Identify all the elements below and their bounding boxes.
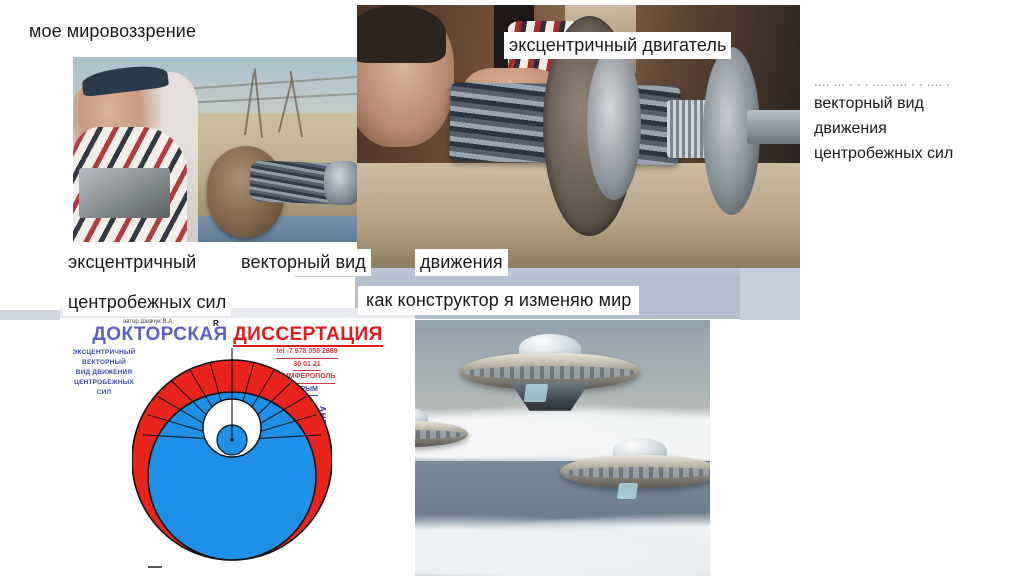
photo2-inner-flange [587, 47, 640, 200]
ufo-rim [464, 366, 637, 379]
photo-ufo-fleet [410, 320, 710, 576]
diagram-left-line: СИЛ [70, 388, 138, 398]
caption-vector-view: векторный вид [236, 249, 371, 276]
caption-constructor: как конструктор я изменяю мир [358, 286, 639, 315]
caption-eccentric-engine: эксцентричный двигатель [504, 32, 731, 59]
ufo-cloud-layer [410, 509, 710, 576]
diagram-title: ДОКТОРСКАЯ ДИССЕРТАЦИЯ [60, 324, 415, 346]
ufo-craft-right [560, 438, 710, 510]
diagram-left-line: ЦЕНТРОБЕЖНЫХ [70, 378, 138, 388]
slide-canvas: автор Шевчук В.А. R ДОКТОРСКАЯ ДИССЕРТАЦ… [0, 0, 1024, 576]
photo2-shaft [747, 110, 800, 144]
diagram-footer-rule [148, 566, 162, 568]
diagram-left-line: ВЕКТОРНЫЙ [70, 358, 138, 368]
ufo-glow [616, 483, 637, 499]
side-note-line-2: движения [814, 117, 1014, 142]
side-note-line-3: центробежных сил [814, 142, 1014, 167]
diagram-svg [132, 348, 332, 573]
doctoral-dissertation-diagram: автор Шевчук В.А. R ДОКТОРСКАЯ ДИССЕРТАЦ… [60, 318, 415, 576]
diagram-left-line: ВИД ДВИЖЕНИЯ [70, 368, 138, 378]
photo2-hair [357, 5, 446, 63]
side-note-blurred-line: .... ... . . . .... .... . . .... . [814, 78, 1014, 92]
diagram-figure [132, 348, 332, 573]
band-left [0, 310, 60, 320]
diagram-title-right: ДИССЕРТАЦИЯ [233, 324, 382, 347]
caption-centrifugal: центробежных сил [63, 289, 231, 316]
side-note-line-1: векторный вид [814, 92, 1014, 117]
diagram-center-dot [230, 438, 234, 442]
diagram-title-left: ДОКТОРСКАЯ [92, 324, 227, 345]
ufo-glow [524, 384, 548, 402]
photo1-hub [324, 161, 358, 205]
diagram-left-line: ЭКСЦЕНТРИЧНЫЙ [70, 348, 138, 358]
diagram-left-caption: ЭКСЦЕНТРИЧНЫЙ ВЕКТОРНЫЙ ВИД ДВИЖЕНИЯ ЦЕН… [70, 348, 138, 398]
photo-eccentric-device-outdoors [73, 57, 358, 242]
caption-motion: движения [415, 249, 508, 276]
caption-worldview: мое мировоззрение [24, 18, 201, 45]
band-right [740, 268, 800, 320]
side-note-block: .... ... . . . .... .... . . .... . вект… [814, 78, 1014, 166]
caption-eccentric: эксцентричный [63, 249, 201, 276]
ufo-craft-top [460, 334, 640, 414]
ufo-craft-left [410, 408, 468, 464]
photo1-motor-block [79, 168, 170, 218]
ufo-keel [510, 382, 589, 411]
